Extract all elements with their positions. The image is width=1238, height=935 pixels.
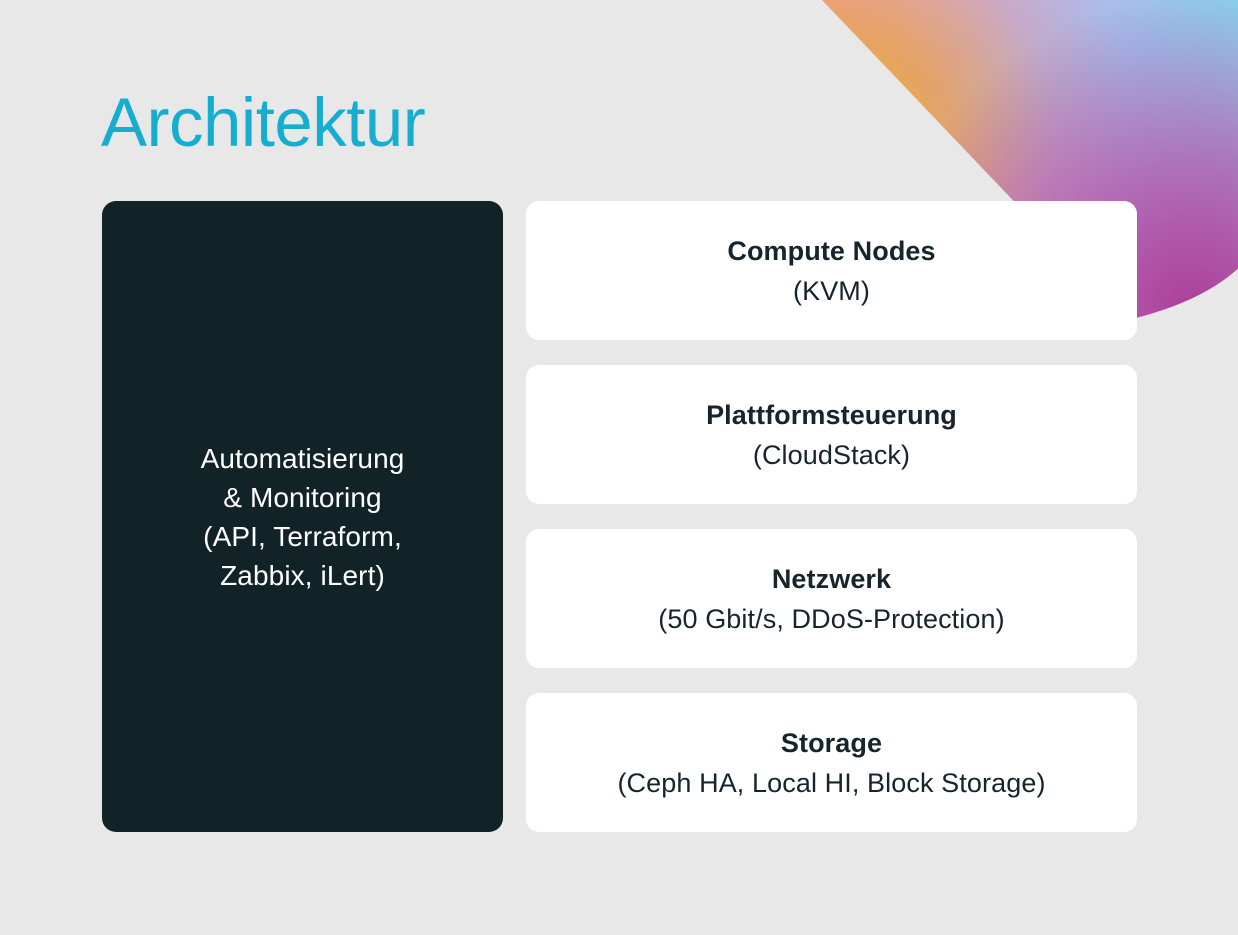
architecture-layout: Automatisierung & Monitoring (API, Terra… bbox=[102, 201, 1137, 832]
card-subtitle: (KVM) bbox=[793, 271, 870, 311]
card-title: Netzwerk bbox=[772, 559, 891, 599]
architecture-card-stack: Compute Nodes (KVM) Plattformsteuerung (… bbox=[526, 201, 1137, 832]
storage-card: Storage (Ceph HA, Local HI, Block Storag… bbox=[526, 693, 1137, 832]
card-subtitle: (CloudStack) bbox=[753, 435, 910, 475]
compute-nodes-card: Compute Nodes (KVM) bbox=[526, 201, 1137, 340]
card-subtitle: (50 Gbit/s, DDoS-Protection) bbox=[658, 599, 1004, 639]
card-title: Plattformsteuerung bbox=[706, 395, 957, 435]
plattformsteuerung-card: Plattformsteuerung (CloudStack) bbox=[526, 365, 1137, 504]
card-subtitle: (Ceph HA, Local HI, Block Storage) bbox=[617, 763, 1045, 803]
netzwerk-card: Netzwerk (50 Gbit/s, DDoS-Protection) bbox=[526, 529, 1137, 668]
card-title: Compute Nodes bbox=[727, 231, 935, 271]
card-title: Storage bbox=[781, 723, 882, 763]
page-title: Architektur bbox=[101, 88, 425, 157]
automation-monitoring-panel: Automatisierung & Monitoring (API, Terra… bbox=[102, 201, 503, 832]
automation-monitoring-panel-text: Automatisierung & Monitoring (API, Terra… bbox=[201, 439, 405, 595]
